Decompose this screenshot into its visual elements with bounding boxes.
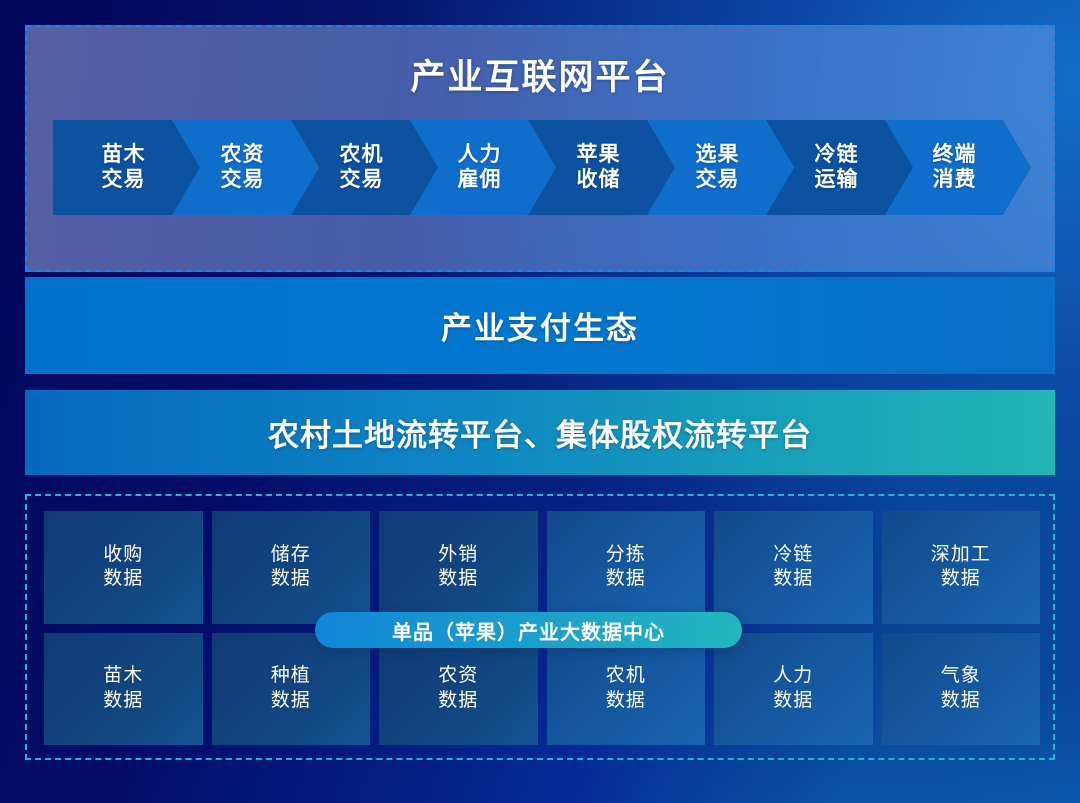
data-card-line2: 数据 xyxy=(931,567,991,592)
chevron-label-line2: 交易 xyxy=(340,168,384,193)
chevron-label-line2: 雇佣 xyxy=(458,168,502,193)
data-card-line2: 数据 xyxy=(773,567,813,592)
data-card-line2: 数据 xyxy=(438,689,478,714)
data-card-line1: 储存 xyxy=(271,543,311,568)
data-card[interactable]: 苗木数据 xyxy=(44,633,203,746)
data-card[interactable]: 农资数据 xyxy=(379,633,538,746)
chevron-label-line1: 选果 xyxy=(696,143,740,168)
data-card-line2: 数据 xyxy=(606,689,646,714)
data-card-line2: 数据 xyxy=(941,689,981,714)
payment-ecosystem-label: 产业支付生态 xyxy=(441,303,639,348)
chevron-label-line2: 交易 xyxy=(221,168,265,193)
data-card-line2: 数据 xyxy=(271,689,311,714)
chevron-label-line1: 苗木 xyxy=(102,143,146,168)
chevron-label-line1: 终端 xyxy=(933,143,977,168)
data-card[interactable]: 储存数据 xyxy=(212,511,371,624)
data-card-line1: 冷链 xyxy=(773,543,813,568)
chevron-step-label: 农机交易 xyxy=(340,143,384,193)
chevron-label-line2: 运输 xyxy=(815,168,859,193)
data-card[interactable]: 外销数据 xyxy=(379,511,538,624)
chevron-step-1[interactable]: 苗木交易 xyxy=(53,120,200,215)
data-card-text: 人力数据 xyxy=(773,664,813,713)
data-card-line2: 数据 xyxy=(438,567,478,592)
chevron-label-line2: 收储 xyxy=(577,168,621,193)
data-card-line2: 数据 xyxy=(103,689,143,714)
chevron-step-label: 冷链运输 xyxy=(815,143,859,193)
data-card[interactable]: 农机数据 xyxy=(547,633,706,746)
data-card-text: 种植数据 xyxy=(271,664,311,713)
data-card-text: 冷链数据 xyxy=(773,543,813,592)
data-card[interactable]: 种植数据 xyxy=(212,633,371,746)
data-card-line1: 种植 xyxy=(271,664,311,689)
chevron-step-label: 苹果收储 xyxy=(577,143,621,193)
data-card-line2: 数据 xyxy=(606,567,646,592)
land-transfer-platform-label: 农村土地流转平台、集体股权流转平台 xyxy=(268,410,812,455)
data-card-line1: 外销 xyxy=(438,543,478,568)
data-card-line1: 气象 xyxy=(941,664,981,689)
data-card-line1: 收购 xyxy=(103,543,143,568)
data-card[interactable]: 冷链数据 xyxy=(714,511,873,624)
page-title: 产业互联网平台 xyxy=(27,49,1053,100)
data-card-text: 农机数据 xyxy=(606,664,646,713)
data-card-line1: 深加工 xyxy=(931,543,991,568)
chevron-step-label: 农资交易 xyxy=(221,143,265,193)
chevron-label-line1: 农资 xyxy=(221,143,265,168)
land-transfer-platform-band: 农村土地流转平台、集体股权流转平台 xyxy=(25,390,1055,475)
data-card-line2: 数据 xyxy=(103,567,143,592)
chevron-label-line1: 人力 xyxy=(458,143,502,168)
chevron-label-line1: 农机 xyxy=(340,143,384,168)
data-card-text: 深加工数据 xyxy=(931,543,991,592)
data-card-line1: 分拣 xyxy=(606,543,646,568)
big-data-center-badge: 单品（苹果）产业大数据中心 xyxy=(315,612,742,648)
data-card-text: 储存数据 xyxy=(271,543,311,592)
data-card-line2: 数据 xyxy=(271,567,311,592)
data-card-line2: 数据 xyxy=(773,689,813,714)
data-card-text: 气象数据 xyxy=(941,664,981,713)
industrial-internet-platform-panel: 产业互联网平台 苗木交易农资交易农机交易人力雇佣苹果收储选果交易冷链运输终端消费 xyxy=(25,25,1055,272)
data-card[interactable]: 气象数据 xyxy=(882,633,1041,746)
data-card-line1: 人力 xyxy=(773,664,813,689)
chevron-label-line2: 交易 xyxy=(102,168,146,193)
big-data-center-badge-label: 单品（苹果）产业大数据中心 xyxy=(392,616,665,645)
data-card-text: 苗木数据 xyxy=(103,664,143,713)
data-card[interactable]: 深加工数据 xyxy=(882,511,1041,624)
data-card-line1: 农机 xyxy=(606,664,646,689)
data-card-text: 外销数据 xyxy=(438,543,478,592)
data-card-line1: 农资 xyxy=(438,664,478,689)
payment-ecosystem-band: 产业支付生态 xyxy=(25,277,1055,374)
data-card[interactable]: 人力数据 xyxy=(714,633,873,746)
chevron-label-line2: 交易 xyxy=(696,168,740,193)
data-card-text: 农资数据 xyxy=(438,664,478,713)
chevron-step-label: 选果交易 xyxy=(696,143,740,193)
data-card[interactable]: 收购数据 xyxy=(44,511,203,624)
chevron-step-label: 人力雇佣 xyxy=(458,143,502,193)
data-card-text: 收购数据 xyxy=(103,543,143,592)
chevron-label-line1: 冷链 xyxy=(815,143,859,168)
data-card-text: 分拣数据 xyxy=(606,543,646,592)
data-card[interactable]: 分拣数据 xyxy=(547,511,706,624)
data-card-line1: 苗木 xyxy=(103,664,143,689)
diagram-canvas: 产业互联网平台 苗木交易农资交易农机交易人力雇佣苹果收储选果交易冷链运输终端消费… xyxy=(0,0,1080,803)
chevron-step-label: 苗木交易 xyxy=(102,143,146,193)
value-chain-chevron-strip: 苗木交易农资交易农机交易人力雇佣苹果收储选果交易冷链运输终端消费 xyxy=(53,120,1031,215)
chevron-label-line2: 消费 xyxy=(933,168,977,193)
chevron-label-line1: 苹果 xyxy=(577,143,621,168)
chevron-step-label: 终端消费 xyxy=(933,143,977,193)
